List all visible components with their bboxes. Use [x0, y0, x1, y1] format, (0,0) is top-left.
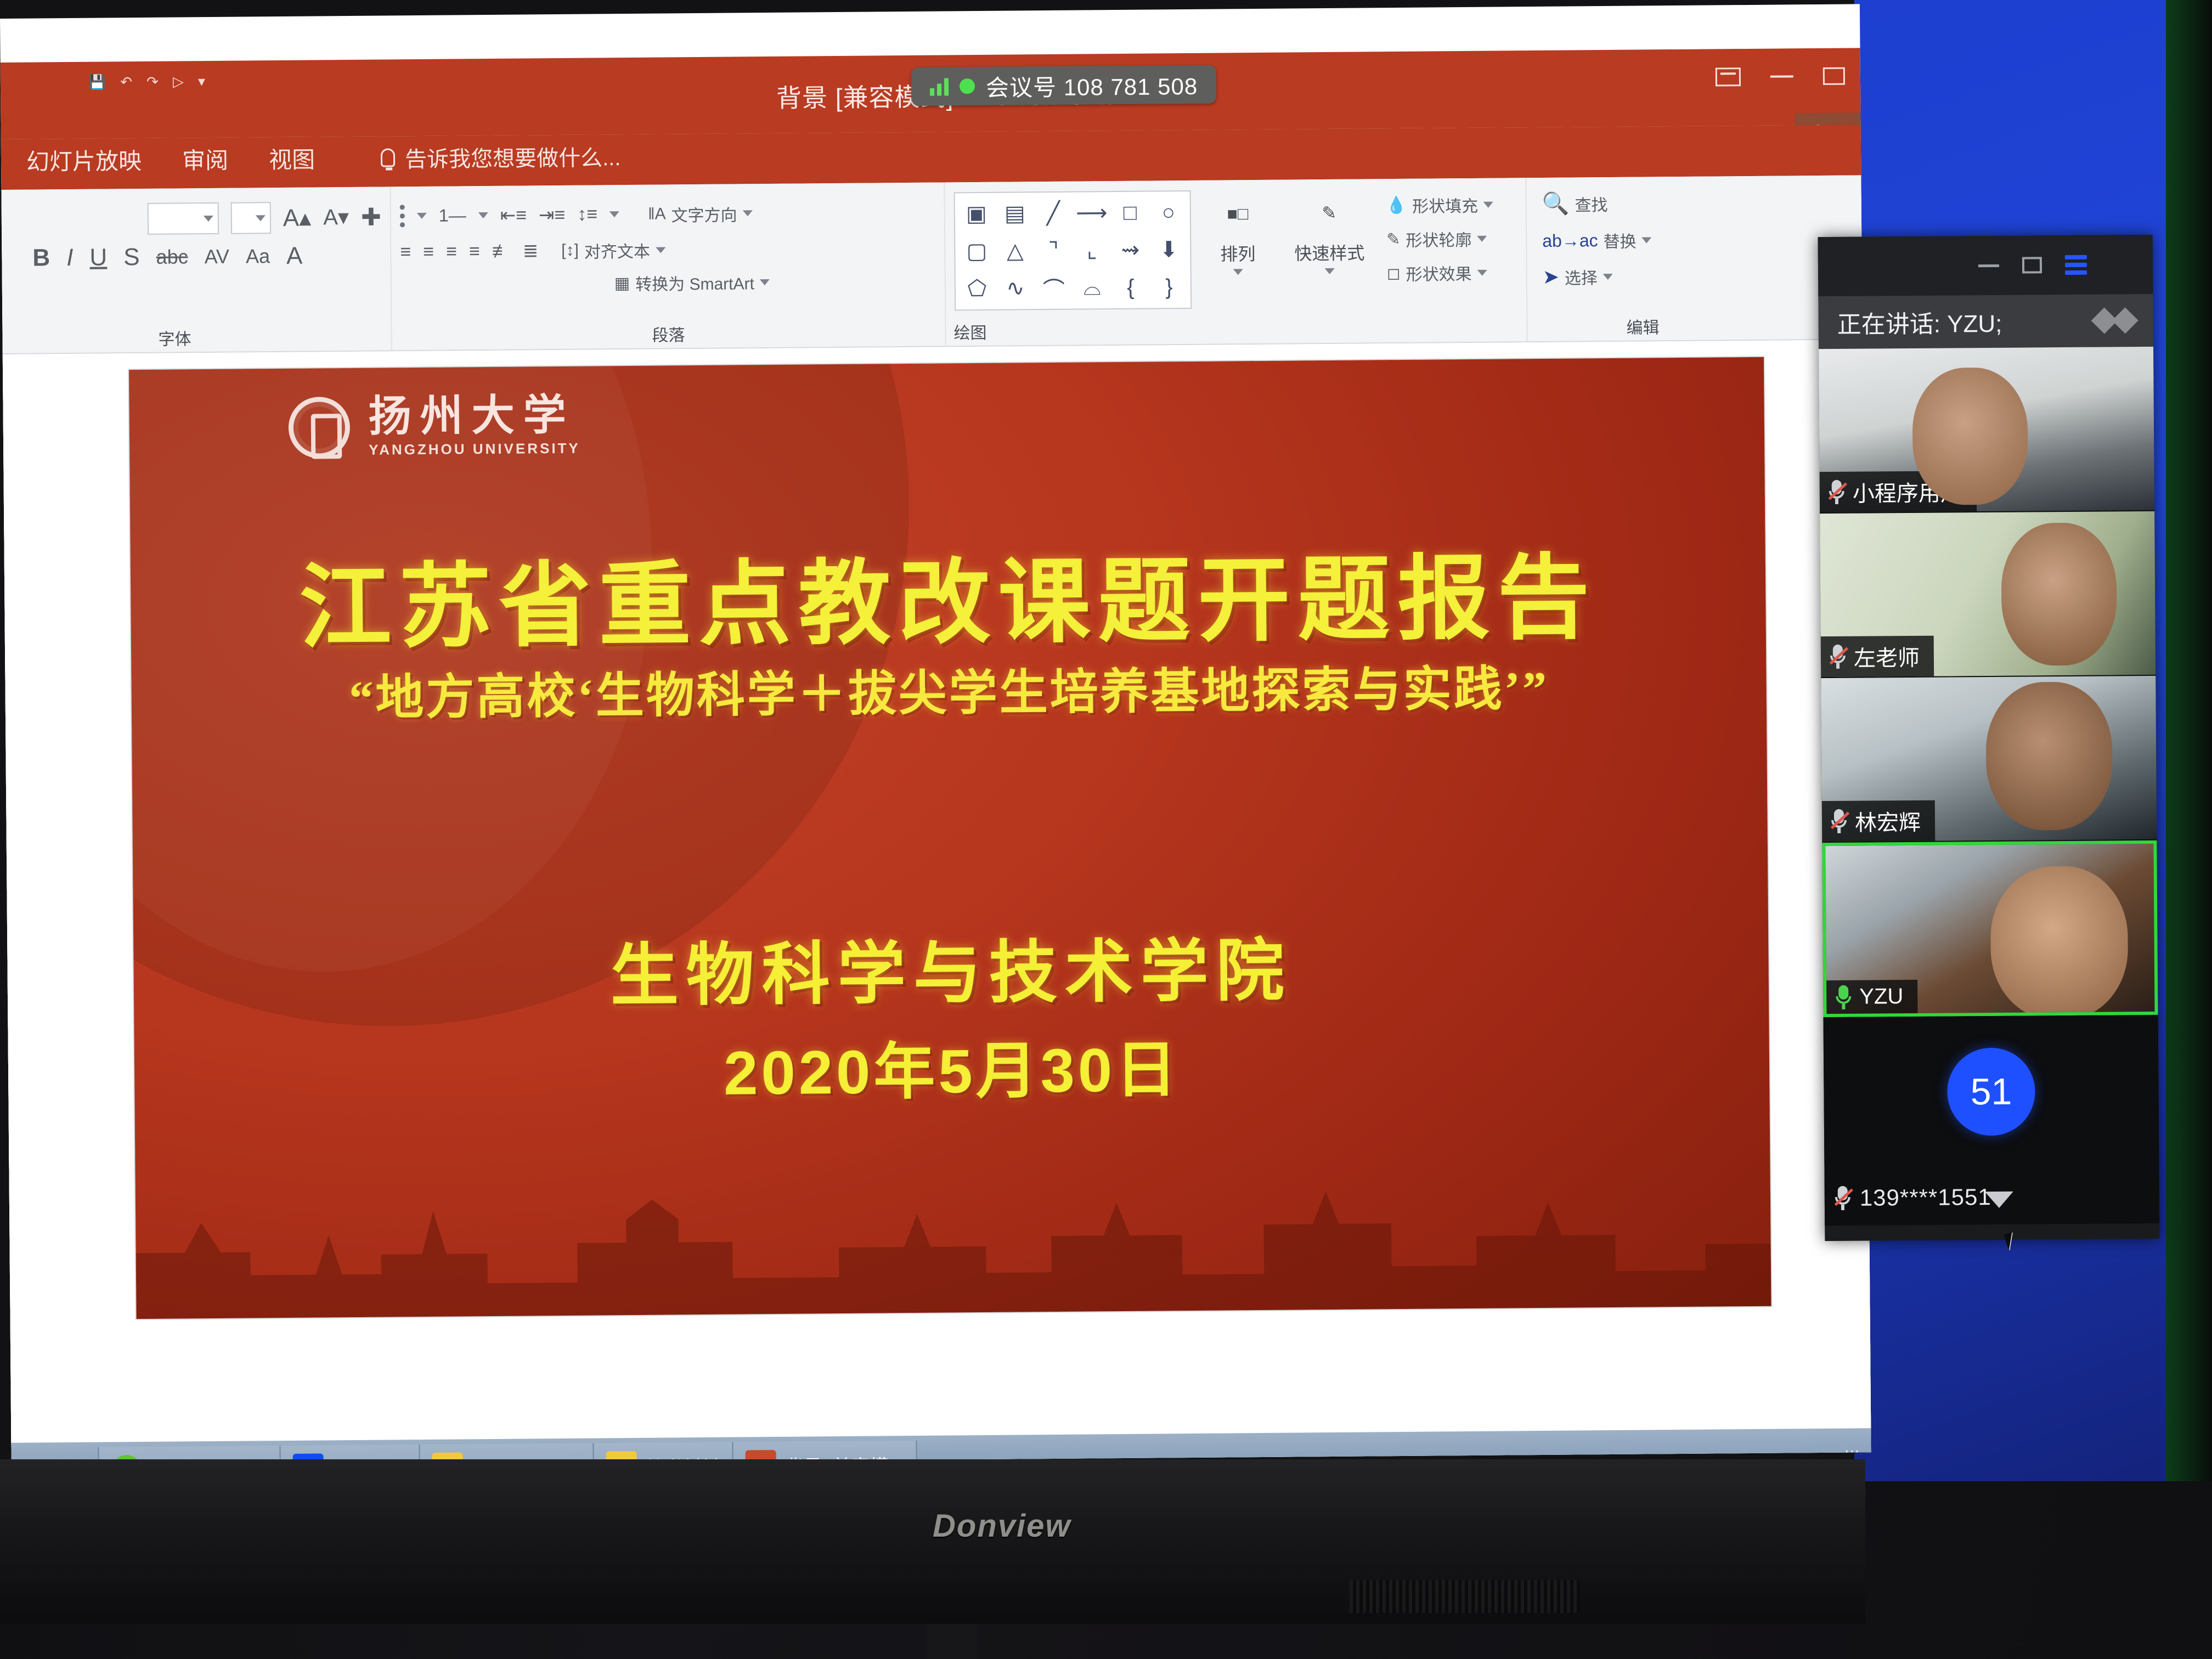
university-emblem-icon: [288, 397, 350, 459]
shape-left-brace-icon[interactable]: {: [1113, 270, 1149, 306]
pencil-outline-icon: ✎: [1386, 229, 1400, 249]
monitor-stand: [927, 1624, 977, 1659]
shape-pentagon-icon[interactable]: ⬠: [959, 271, 996, 307]
ribbon-tabs[interactable]: 画 幻灯片放映 审阅 视图 告诉我您想要做什么...: [0, 139, 621, 177]
quick-styles-icon: ✎: [1305, 189, 1355, 237]
participant-tile[interactable]: 小程序用户: [1819, 347, 2154, 513]
mic-muted-icon: [1831, 809, 1847, 833]
shape-line-icon[interactable]: ╱: [1035, 196, 1072, 232]
quick-styles-button[interactable]: ✎ 快速样式: [1284, 189, 1375, 274]
change-case-icon[interactable]: Aa: [246, 245, 270, 268]
replace-label: 替换: [1603, 228, 1636, 252]
font-size-box[interactable]: [231, 202, 271, 234]
underline-icon[interactable]: U: [89, 244, 107, 271]
shape-elbow-connector-icon[interactable]: ⌝: [1035, 233, 1072, 269]
participant-tile[interactable]: 林宏辉: [1821, 676, 2157, 843]
slide-subtitle[interactable]: “地方高校‘生物科学＋拔尖学生培养基地探索与实践’”: [131, 648, 1767, 730]
tab-review[interactable]: 审阅: [182, 142, 228, 176]
signal-bars-icon: [930, 77, 949, 95]
decrease-font-size-icon[interactable]: A▾: [323, 205, 349, 230]
chevron-down-icon[interactable]: [1985, 1192, 2013, 1208]
participant-tile[interactable]: 左老师: [1820, 511, 2155, 678]
shadow-icon[interactable]: S: [123, 244, 140, 271]
slide-organization[interactable]: 生物科学与技术学院: [133, 911, 1769, 1023]
decrease-indent-icon[interactable]: ⇤≡: [500, 204, 527, 226]
shape-effects-icon: ◻: [1387, 263, 1401, 283]
shape-down-arrow-icon[interactable]: ⬇: [1150, 232, 1187, 268]
shape-oval-icon[interactable]: ○: [1150, 195, 1187, 230]
numbering-chevron-icon[interactable]: [478, 212, 488, 218]
search-icon: 🔍: [1542, 191, 1570, 217]
wall-edge: [2166, 0, 2212, 1481]
align-text-button[interactable]: [↕] 对齐文本: [561, 238, 665, 262]
participant-tile-active-speaker[interactable]: YZU: [1822, 840, 2158, 1017]
video-conference-window[interactable]: 正在讲话: YZU; 小程序用户 左老师: [1818, 235, 2160, 1241]
screenshot-root: 💾 ↶ ↷ ▷ ▾ 背景 [兼容模式] - PowerPoint 会议号 108…: [0, 0, 2212, 1659]
ribbon-body[interactable]: A▴ A▾ ✚ B I U S abc AV Aa A 字体: [0, 174, 1871, 354]
university-name-en: YANGZHOU UNIVERSITY: [369, 440, 580, 459]
maximize-icon[interactable]: [2022, 257, 2042, 273]
shape-textbox-icon[interactable]: ▣: [958, 196, 995, 232]
slide-pane[interactable]: 扬州大学 YANGZHOU UNIVERSITY 江苏省重点教改课题开题报告 “…: [0, 339, 1871, 1445]
align-text-label: 对齐文本: [584, 238, 650, 263]
shape-effects-label: 形状效果: [1406, 261, 1471, 285]
ribbon-group-label-editing: 编辑: [1527, 313, 1758, 339]
participant-name-badge: 左老师: [1821, 636, 1934, 677]
slide-date[interactable]: 2020年5月30日: [134, 1015, 1769, 1117]
columns-icon[interactable]: ≣: [523, 240, 539, 262]
align-text-icon: [↕]: [561, 241, 579, 260]
more-participant-name: 139****1551: [1860, 1184, 1991, 1211]
text-direction-button[interactable]: ‖A 文字方向: [648, 201, 753, 226]
more-participant-row[interactable]: 139****1551: [1835, 1184, 1991, 1211]
clear-formatting-icon[interactable]: ✚: [361, 203, 381, 231]
text-direction-label: 文字方向: [671, 201, 737, 226]
tab-slideshow[interactable]: 幻灯片放映: [26, 143, 142, 177]
line-spacing-icon[interactable]: ↕≡: [577, 204, 597, 225]
conference-title-bar[interactable]: [1818, 235, 2153, 296]
shape-right-brace-icon[interactable]: }: [1151, 269, 1188, 305]
shape-vertical-textbox-icon[interactable]: ▤: [997, 196, 1034, 232]
arrange-button[interactable]: ■□ 排列: [1203, 190, 1273, 275]
increase-indent-icon[interactable]: ⇥≡: [539, 204, 566, 225]
ribbon-group-label-paragraph: 段落: [392, 319, 945, 348]
shapes-gallery[interactable]: ▣ ▤ ╱ ⟶ □ ○ ▢ △ ⌝ ⌞ ⇝ ⬇ ⬠: [954, 190, 1192, 311]
shape-triangle-icon[interactable]: △: [997, 233, 1034, 269]
display-screen: 💾 ↶ ↷ ▷ ▾ 背景 [兼容模式] - PowerPoint 会议号 108…: [0, 4, 1871, 1467]
align-center-icon[interactable]: ≡: [423, 241, 434, 262]
lightbulb-icon: [381, 148, 395, 167]
participant-count-avatar[interactable]: 51: [1947, 1047, 2035, 1136]
quick-styles-label: 快速样式: [1294, 239, 1364, 265]
participant-name-badge: 林宏辉: [1822, 800, 1936, 842]
more-participants-area[interactable]: 51 139****1551: [1824, 1015, 2160, 1226]
minimize-icon[interactable]: [1770, 75, 1793, 77]
tell-me-search[interactable]: 告诉我您想要做什么...: [381, 140, 621, 173]
shape-outline-label: 形状轮廓: [1406, 227, 1471, 251]
replace-icon: ab→ac: [1542, 230, 1598, 251]
shape-outline-button[interactable]: ✎ 形状轮廓: [1386, 227, 1494, 252]
speaker-grille: [1350, 1580, 1580, 1613]
slide-canvas[interactable]: 扬州大学 YANGZHOU UNIVERSITY 江苏省重点教改课题开题报告 “…: [129, 357, 1771, 1319]
shape-right-arrow-icon[interactable]: ⇝: [1112, 233, 1149, 268]
line-spacing-chevron-icon[interactable]: [610, 211, 619, 217]
minimize-icon[interactable]: [1978, 264, 1999, 267]
university-logo: 扬州大学 YANGZHOU UNIVERSITY: [288, 394, 580, 459]
mic-muted-icon: [1835, 1186, 1851, 1210]
editor-area: 扬州大学 YANGZHOU UNIVERSITY 江苏省重点教改课题开题报告 “…: [0, 339, 1871, 1445]
font-name-box[interactable]: [148, 202, 219, 235]
replace-button[interactable]: ab→ac 替换: [1542, 227, 1748, 253]
convert-smartart-label: 转换为 SmartArt: [635, 270, 754, 295]
strikethrough-icon[interactable]: abc: [156, 245, 188, 268]
skyline-decor-icon: [135, 1125, 1771, 1319]
increase-font-size-icon[interactable]: A▴: [283, 204, 312, 232]
shape-fill-button[interactable]: 💧 形状填充: [1386, 193, 1494, 218]
text-direction-icon: ‖A: [648, 205, 666, 223]
shape-fill-label: 形状填充: [1412, 193, 1478, 217]
arrange-icon: ■□: [1213, 190, 1263, 238]
align-right-icon[interactable]: ≡: [446, 241, 457, 262]
numbered-list-icon[interactable]: 1—: [439, 205, 466, 225]
tab-view[interactable]: 视图: [269, 142, 315, 176]
mic-on-icon: [1835, 985, 1852, 1009]
menu-icon[interactable]: [2065, 255, 2087, 275]
paint-bucket-icon: 💧: [1386, 195, 1407, 215]
speaking-status-bar: 正在讲话: YZU;: [1818, 294, 2153, 349]
ribbon-group-font[interactable]: A▴ A▾ ✚ B I U S abc AV Aa A 字体: [0, 187, 392, 353]
ribbon-group-drawing[interactable]: ▣ ▤ ╱ ⟶ □ ○ ▢ △ ⌝ ⌞ ⇝ ⬇ ⬠: [945, 178, 1527, 346]
monitor-brand-label: Donview: [933, 1508, 1071, 1544]
bulleted-list-icon[interactable]: [400, 201, 405, 231]
shape-elbow-arrow-icon[interactable]: ⌞: [1074, 233, 1110, 268]
italic-icon[interactable]: I: [66, 244, 74, 272]
shape-arc-icon[interactable]: ⌓: [1074, 270, 1111, 306]
participant-name-badge: 小程序用户: [1820, 471, 1977, 512]
ribbon-group-editing[interactable]: 🔍 查找 ab→ac 替换 ➤ 选择: [1526, 176, 1758, 341]
shape-arrow-icon[interactable]: ⟶: [1074, 195, 1110, 231]
restore-icon[interactable]: [1823, 67, 1845, 85]
slide-title[interactable]: 江苏省重点教改课题开题报告: [130, 522, 1766, 668]
shape-effects-button[interactable]: ◻ 形状效果: [1387, 261, 1494, 286]
status-dot-icon: [960, 78, 975, 94]
cursor-arrow-icon: ➤: [1543, 266, 1560, 289]
participant-name: 左老师: [1854, 640, 1920, 673]
participant-name: 小程序用户: [1853, 475, 1962, 507]
participant-name-badge: YZU: [1826, 980, 1917, 1014]
justify-icon[interactable]: ≡: [469, 241, 480, 262]
window-controls[interactable]: ✕: [1716, 66, 1871, 87]
mic-muted-icon: [1830, 645, 1846, 669]
convert-smartart-button[interactable]: ▦ 转换为 SmartArt: [614, 270, 770, 295]
shape-freeform-icon[interactable]: ∿: [997, 270, 1034, 306]
shape-rounded-rect-icon[interactable]: ▢: [958, 234, 995, 269]
app-logo-icon: [2095, 311, 2135, 330]
ribbon-group-label-drawing: 绘图: [946, 315, 1526, 343]
shape-rectangle-icon[interactable]: □: [1112, 195, 1149, 231]
powerpoint-window: 💾 ↶ ↷ ▷ ▾ 背景 [兼容模式] - PowerPoint 会议号 108…: [0, 47, 1871, 1445]
select-button[interactable]: ➤ 选择: [1543, 263, 1749, 289]
meeting-id-badge[interactable]: 会议号 108 781 508: [911, 65, 1217, 106]
shape-curve-icon[interactable]: ⌒: [1036, 270, 1073, 306]
university-name-cn: 扬州大学: [368, 394, 580, 438]
font-color-icon[interactable]: A: [286, 242, 303, 270]
ribbon-group-label-font: 字体: [0, 324, 391, 351]
powerpoint-title-bar: 💾 ↶ ↷ ▷ ▾ 背景 [兼容模式] - PowerPoint 会议号 108…: [0, 47, 1871, 139]
ribbon-group-paragraph[interactable]: 1— ⇤≡ ⇥≡ ↕≡ ‖A 文字方向 ≡ ≡: [391, 182, 946, 350]
mic-muted-icon: [1829, 480, 1845, 504]
character-spacing-icon[interactable]: AV: [204, 245, 229, 268]
tell-me-label: 告诉我您想要做什么...: [405, 140, 621, 173]
participant-name: YZU: [1859, 984, 1903, 1009]
smartart-icon: ▦: [614, 273, 630, 292]
speaking-label: 正在讲话: YZU;: [1837, 304, 2002, 340]
bullets-chevron-icon[interactable]: [417, 213, 427, 219]
bold-icon[interactable]: B: [32, 244, 50, 272]
ribbon-display-options-icon[interactable]: [1716, 67, 1741, 86]
participant-name: 林宏辉: [1855, 805, 1921, 837]
find-button[interactable]: 🔍 查找: [1542, 189, 1748, 217]
distribute-icon[interactable]: ≢: [492, 240, 511, 262]
find-label: 查找: [1575, 191, 1607, 215]
select-label: 选择: [1565, 264, 1598, 289]
align-left-icon[interactable]: ≡: [400, 241, 411, 263]
meeting-id-label: 会议号 108 781 508: [986, 67, 1198, 103]
arrange-label: 排列: [1220, 240, 1255, 266]
